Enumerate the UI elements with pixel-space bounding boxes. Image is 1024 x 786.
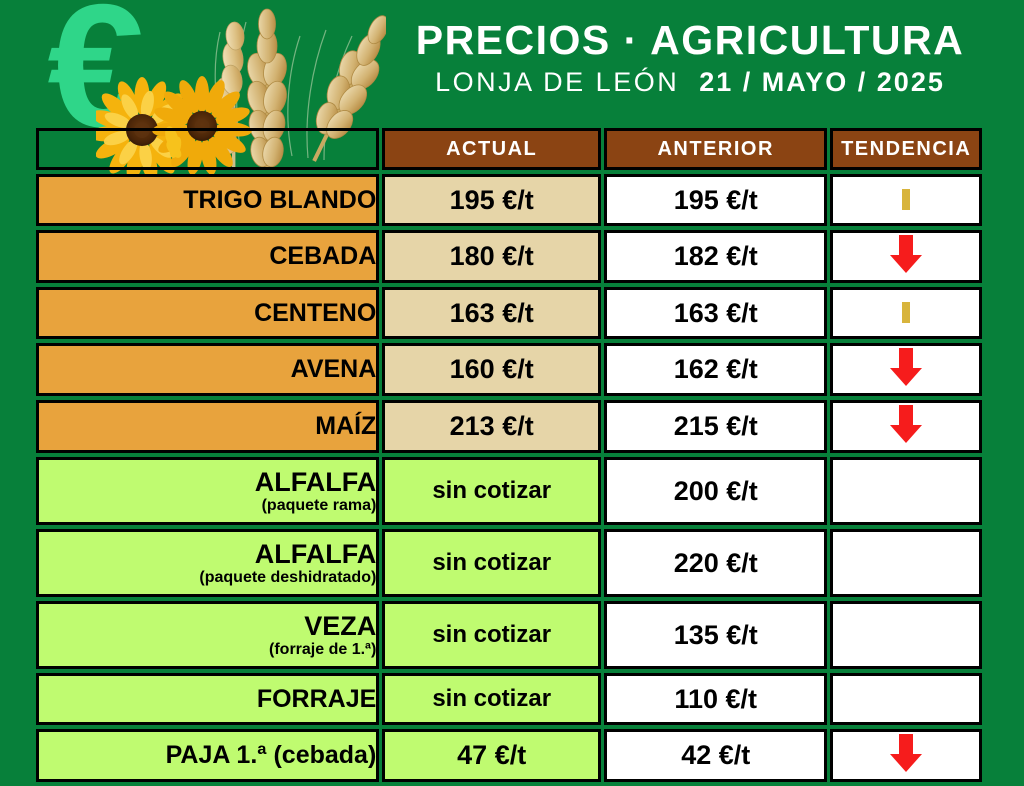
price-actual-2: 163 €/t [382,287,601,339]
price-actual-4: 213 €/t [382,400,601,453]
row-label-6: ALFALFA(paquete deshidratado) [36,529,379,597]
table-row: AVENA160 €/t162 €/t [36,343,982,396]
price-actual-0: 195 €/t [382,174,601,226]
product-subtitle: (forraje de 1.ª) [39,642,376,658]
price-actual-1: 180 €/t [382,230,601,283]
product-name: PAJA 1.ª (cebada) [166,741,377,769]
product-name: CENTENO [254,299,376,327]
price-actual-9: 47 €/t [382,729,601,782]
row-label-0: TRIGO BLANDO [36,174,379,226]
row-label-5: ALFALFA(paquete rama) [36,457,379,525]
product-name: ALFALFA [255,467,377,497]
price-anterior-7: 135 €/t [604,601,827,669]
page-title: PRECIOS · AGRICULTURA [370,18,1010,62]
column-header-anterior: ANTERIOR [604,128,827,170]
price-actual-5: sin cotizar [382,457,601,525]
row-label-9: PAJA 1.ª (cebada) [36,729,379,782]
price-actual-7: sin cotizar [382,601,601,669]
product-name: MAÍZ [315,412,376,440]
price-anterior-9: 42 €/t [604,729,827,782]
report-date: 21 / MAYO / 2025 [699,67,945,98]
price-actual-8: sin cotizar [382,673,601,725]
trend-down-icon [886,403,926,445]
row-label-7: VEZA(forraje de 1.ª) [36,601,379,669]
table-row: ALFALFA(paquete deshidratado)sin cotizar… [36,529,982,597]
row-label-8: FORRAJE [36,673,379,725]
trend-cell-3 [830,343,982,396]
price-anterior-3: 162 €/t [604,343,827,396]
product-subtitle: (paquete rama) [39,498,376,514]
trend-cell-7 [830,601,982,669]
price-anterior-5: 200 €/t [604,457,827,525]
table-row: ALFALFA(paquete rama)sin cotizar200 €/t [36,457,982,525]
table-row: TRIGO BLANDO195 €/t195 €/t [36,174,982,226]
table-row: PAJA 1.ª (cebada)47 €/t42 €/t [36,729,982,782]
price-anterior-8: 110 €/t [604,673,827,725]
table-row: CEBADA180 €/t182 €/t [36,230,982,283]
trend-down-icon [886,346,926,388]
product-subtitle: (paquete deshidratado) [39,570,376,586]
table-row: VEZA(forraje de 1.ª)sin cotizar135 €/t [36,601,982,669]
price-anterior-2: 163 €/t [604,287,827,339]
trend-cell-8 [830,673,982,725]
price-actual-6: sin cotizar [382,529,601,597]
product-name: ALFALFA [255,539,377,569]
price-table: ACTUAL ANTERIOR TENDENCIA TRIGO BLANDO19… [33,124,985,786]
header-blank-cell [36,128,379,170]
row-label-1: CEBADA [36,230,379,283]
row-label-2: CENTENO [36,287,379,339]
header-block: PRECIOS · AGRICULTURA LONJA DE LEÓN 21 /… [370,18,1010,98]
table-row: MAÍZ213 €/t215 €/t [36,400,982,453]
price-anterior-6: 220 €/t [604,529,827,597]
table-row: CENTENO163 €/t163 €/t [36,287,982,339]
column-header-actual: ACTUAL [382,128,601,170]
trend-cell-4 [830,400,982,453]
subtitle-row: LONJA DE LEÓN 21 / MAYO / 2025 [370,67,1010,98]
row-label-3: AVENA [36,343,379,396]
row-label-4: MAÍZ [36,400,379,453]
table-header-row: ACTUAL ANTERIOR TENDENCIA [36,128,982,170]
table-row: FORRAJEsin cotizar110 €/t [36,673,982,725]
trend-down-icon [886,233,926,275]
trend-cell-0 [830,174,982,226]
trend-cell-2 [830,287,982,339]
product-name: FORRAJE [257,685,376,713]
column-header-tendencia: TENDENCIA [830,128,982,170]
trend-cell-1 [830,230,982,283]
product-name: AVENA [291,355,377,383]
product-name: TRIGO BLANDO [183,186,376,214]
product-name: CEBADA [269,242,376,270]
price-anterior-4: 215 €/t [604,400,827,453]
price-anterior-1: 182 €/t [604,230,827,283]
price-actual-3: 160 €/t [382,343,601,396]
trend-cell-9 [830,729,982,782]
trend-cell-5 [830,457,982,525]
table-body: ACTUAL ANTERIOR TENDENCIA TRIGO BLANDO19… [36,128,982,782]
trend-cell-6 [830,529,982,597]
product-name: VEZA [304,611,376,641]
market-name: LONJA DE LEÓN [435,67,679,98]
price-anterior-0: 195 €/t [604,174,827,226]
